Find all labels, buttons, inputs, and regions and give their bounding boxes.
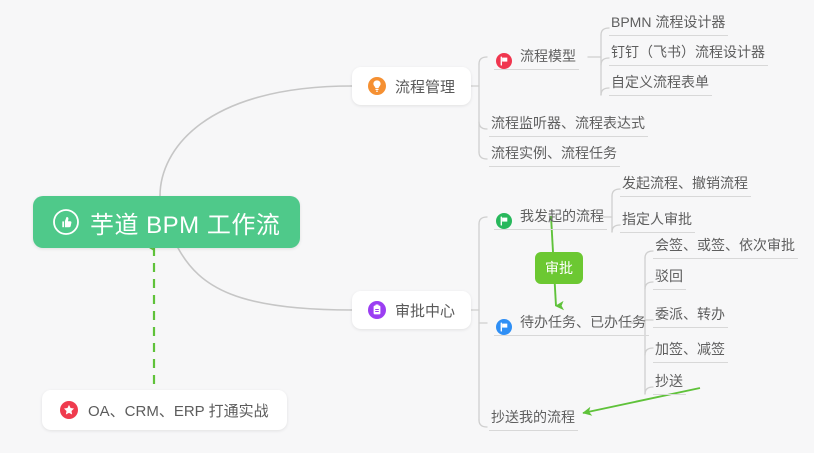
branch-label-approval-center: 审批中心 [395, 300, 455, 321]
thumbs-up-icon [53, 209, 79, 235]
sub-node-process-listener-expression[interactable]: 流程监听器、流程表达式 [489, 111, 648, 137]
approval-tag-label: 审批 [545, 258, 573, 278]
wire-ac-to-ccme [479, 420, 487, 427]
root-node[interactable]: 芋道 BPM 工作流 [33, 196, 300, 248]
leaf-node-custom-process-form[interactable]: 自定义流程表单 [609, 70, 712, 96]
footnote-label: OA、CRM、ERP 打通实战 [88, 400, 269, 421]
sub-node-process-model[interactable]: 流程模型 [494, 44, 579, 70]
leaf-label-cc: 抄送 [655, 370, 683, 394]
flag-icon [496, 213, 512, 229]
leaf-label-custom-process-form: 自定义流程表单 [611, 71, 709, 95]
leaf-node-cc[interactable]: 抄送 [653, 369, 686, 395]
sub-label-my-initiated-process: 我发起的流程 [520, 205, 604, 229]
wire-initiated-to-start [612, 189, 620, 196]
star-icon [60, 401, 78, 419]
wire-pm-to-model [479, 57, 487, 64]
sub-label-process-model: 流程模型 [520, 45, 576, 69]
branch-node-process-management[interactable]: 流程管理 [352, 67, 471, 105]
wire-model-to-ding [601, 58, 609, 65]
wire-initiated-to-assignee [612, 225, 620, 232]
flag-icon [496, 53, 512, 69]
wire-model-to-bpmn [601, 28, 609, 35]
leaf-label-add-remove-sign: 加签、减签 [655, 338, 725, 362]
wire-todo-to-cc [645, 387, 653, 394]
lightbulb-icon [368, 77, 386, 95]
clipboard-icon [368, 301, 386, 319]
leaf-node-dingtalk-feishu-designer[interactable]: 钉钉（飞书）流程设计器 [609, 40, 768, 66]
leaf-label-dingtalk-feishu-designer: 钉钉（飞书）流程设计器 [611, 41, 765, 65]
leaf-label-assignee-approval: 指定人审批 [622, 208, 692, 232]
sub-label-cc-to-me-process: 抄送我的流程 [491, 406, 575, 430]
sub-node-cc-to-me-process[interactable]: 抄送我的流程 [489, 405, 578, 431]
sub-label-process-instance-task: 流程实例、流程任务 [491, 142, 617, 166]
wire-todo-to-countersign [645, 251, 653, 258]
approval-tag[interactable]: 审批 [535, 252, 583, 284]
flag-icon [496, 319, 512, 335]
sub-node-todo-done-tasks[interactable]: 待办任务、已办任务 [494, 310, 649, 336]
leaf-node-assignee-approval[interactable]: 指定人审批 [620, 207, 695, 233]
wire-root-to-process-management [160, 86, 352, 196]
footnote-node[interactable]: OA、CRM、ERP 打通实战 [42, 390, 287, 430]
leaf-label-countersign-orsign-sequential: 会签、或签、依次审批 [655, 234, 795, 258]
wire-root-to-approval-center [178, 248, 352, 310]
leaf-label-start-cancel-process: 发起流程、撤销流程 [622, 172, 748, 196]
sub-node-process-instance-task[interactable]: 流程实例、流程任务 [489, 141, 620, 167]
wire-model-to-form [601, 88, 609, 95]
leaf-label-delegate-transfer: 委派、转办 [655, 303, 725, 327]
wire-todo-to-reject [645, 282, 653, 289]
wire-ac-to-initiated [479, 217, 487, 224]
mindmap-canvas: 芋道 BPM 工作流 流程管理 流程模型 BPMN 流程设计器 钉钉（飞书）流程 [0, 0, 814, 453]
wire-pm-to-instance [479, 152, 487, 159]
leaf-label-bpmn-designer: BPMN 流程设计器 [611, 11, 725, 35]
sub-label-todo-done-tasks: 待办任务、已办任务 [520, 311, 646, 335]
wire-todo-to-addsign [645, 348, 653, 355]
leaf-label-reject: 驳回 [655, 265, 683, 289]
branch-label-process-management: 流程管理 [395, 76, 455, 97]
sub-label-process-listener-expression: 流程监听器、流程表达式 [491, 112, 645, 136]
leaf-node-reject[interactable]: 驳回 [653, 264, 686, 290]
wire-pm-to-listener [479, 122, 487, 129]
branch-node-approval-center[interactable]: 审批中心 [352, 291, 471, 329]
leaf-node-add-remove-sign[interactable]: 加签、减签 [653, 337, 728, 363]
leaf-node-bpmn-designer[interactable]: BPMN 流程设计器 [609, 10, 728, 36]
root-label: 芋道 BPM 工作流 [90, 205, 280, 240]
sub-node-my-initiated-process[interactable]: 我发起的流程 [494, 204, 607, 230]
leaf-node-start-cancel-process[interactable]: 发起流程、撤销流程 [620, 171, 751, 197]
leaf-node-countersign-orsign-sequential[interactable]: 会签、或签、依次审批 [653, 233, 798, 259]
leaf-node-delegate-transfer[interactable]: 委派、转办 [653, 302, 728, 328]
